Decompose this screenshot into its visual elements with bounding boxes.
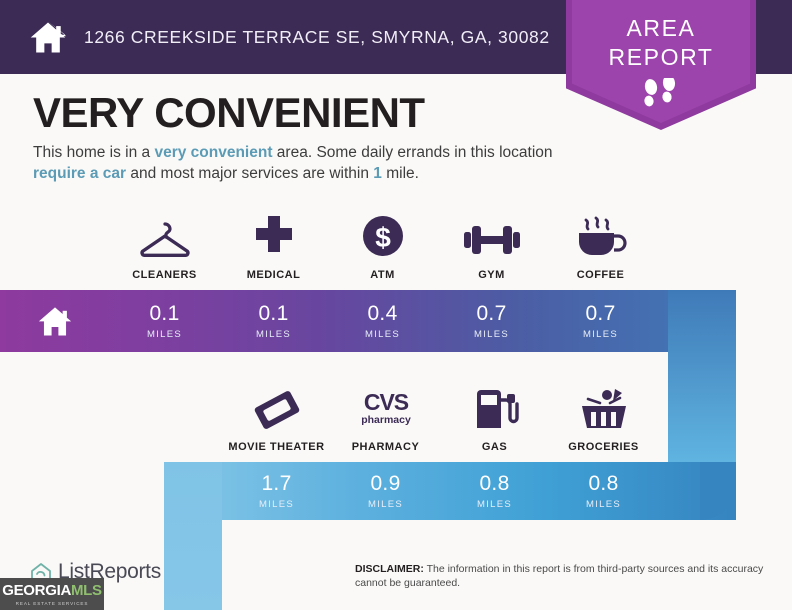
svg-text:CVS: CVS — [363, 389, 408, 415]
cvs-pharmacy-icon: CVS pharmacy — [347, 388, 425, 432]
panel-band2-left-gap — [0, 352, 164, 462]
badge-line-2: REPORT — [608, 46, 713, 69]
watermark-tagline: REAL ESTATE SERVICES — [16, 601, 89, 606]
distance-unit: MILES — [368, 499, 403, 510]
origin-home-cell — [0, 290, 110, 352]
distance-value: 0.8 — [479, 473, 509, 494]
distance-value: 0.7 — [585, 303, 615, 324]
dollar-circle-icon: $ — [360, 214, 406, 260]
svg-text:pharmacy: pharmacy — [361, 414, 411, 426]
distance-cell-medical: 0.1 MILES — [219, 290, 328, 352]
category-label: MOVIE THEATER — [228, 441, 324, 453]
footprints-icon — [635, 78, 687, 112]
category-medical: MEDICAL — [219, 210, 328, 281]
category-label: CLEANERS — [132, 269, 197, 281]
area-report-infographic: 1266 CREEKSIDE TERRACE SE, SMYRNA, GA, 3… — [0, 0, 792, 610]
category-coffee: COFFEE — [546, 210, 655, 281]
category-label: PHARMACY — [352, 441, 420, 453]
watermark-part-2: MLS — [71, 582, 102, 599]
disclaimer: DISCLAIMER: The information in this repo… — [355, 562, 765, 590]
distance-value: 1.7 — [261, 473, 291, 494]
distance-value: 0.1 — [258, 303, 288, 324]
distance-cell-pharmacy: 0.9 MILES — [331, 462, 440, 520]
distance-cell-coffee: 0.7 MILES — [546, 290, 655, 352]
distance-cell-gas: 0.8 MILES — [440, 462, 549, 520]
gas-pump-icon — [471, 386, 519, 432]
distance-cell-groceries: 0.8 MILES — [549, 462, 658, 520]
home-icon — [36, 304, 74, 338]
category-gym: GYM — [437, 210, 546, 281]
distance-unit: MILES — [474, 329, 509, 340]
category-pharmacy: CVS pharmacy PHARMACY — [331, 382, 440, 453]
distance-value: 0.7 — [476, 303, 506, 324]
distance-cell-atm: 0.4 MILES — [328, 290, 437, 352]
distance-unit: MILES — [583, 329, 618, 340]
category-label: GYM — [478, 269, 505, 281]
distance-row-2: 1.7 MILES 0.9 MILES 0.8 MILES 0.8 MILES — [222, 462, 658, 520]
distance-unit: MILES — [256, 329, 291, 340]
category-label: GROCERIES — [568, 441, 639, 453]
distance-unit: MILES — [586, 499, 621, 510]
coffee-cup-icon — [574, 214, 628, 260]
distance-unit: MILES — [477, 499, 512, 510]
watermark-part-1: GEORGIA — [2, 582, 71, 599]
category-gas: GAS — [440, 382, 549, 453]
distance-row-1: 0.1 MILES 0.1 MILES 0.4 MILES 0.7 MILES … — [0, 290, 655, 352]
georgia-mls-watermark: GEORGIAMLS REAL ESTATE SERVICES — [0, 578, 104, 610]
grocery-basket-icon — [576, 386, 632, 432]
category-cleaners: CLEANERS — [110, 210, 219, 281]
svg-text:$: $ — [375, 222, 391, 253]
medical-cross-icon — [251, 214, 297, 260]
hanger-icon — [139, 220, 191, 260]
category-label: MEDICAL — [247, 269, 301, 281]
category-row-1: CLEANERS MEDICAL $ ATM — [110, 210, 655, 281]
distance-value: 0.4 — [367, 303, 397, 324]
distance-value: 0.8 — [588, 473, 618, 494]
category-label: ATM — [370, 269, 395, 281]
disclaimer-label: DISCLAIMER: — [355, 563, 424, 575]
distance-unit: MILES — [365, 329, 400, 340]
category-label: GAS — [482, 441, 507, 453]
dumbbell-icon — [462, 220, 522, 260]
category-atm: $ ATM — [328, 210, 437, 281]
distance-value: 0.9 — [370, 473, 400, 494]
category-row-2: MOVIE THEATER CVS pharmacy PHARMACY GAS — [222, 382, 658, 453]
badge-line-1: AREA — [626, 17, 695, 40]
distance-cell-cleaners: 0.1 MILES — [110, 290, 219, 352]
distance-unit: MILES — [259, 499, 294, 510]
distance-cell-movie-theater: 1.7 MILES — [222, 462, 331, 520]
distance-unit: MILES — [147, 329, 182, 340]
category-label: COFFEE — [577, 269, 625, 281]
distance-value: 0.1 — [149, 303, 179, 324]
category-groceries: GROCERIES — [549, 382, 658, 453]
movie-ticket-icon — [252, 388, 302, 432]
category-movie-theater: MOVIE THEATER — [222, 382, 331, 453]
distance-cell-gym: 0.7 MILES — [437, 290, 546, 352]
